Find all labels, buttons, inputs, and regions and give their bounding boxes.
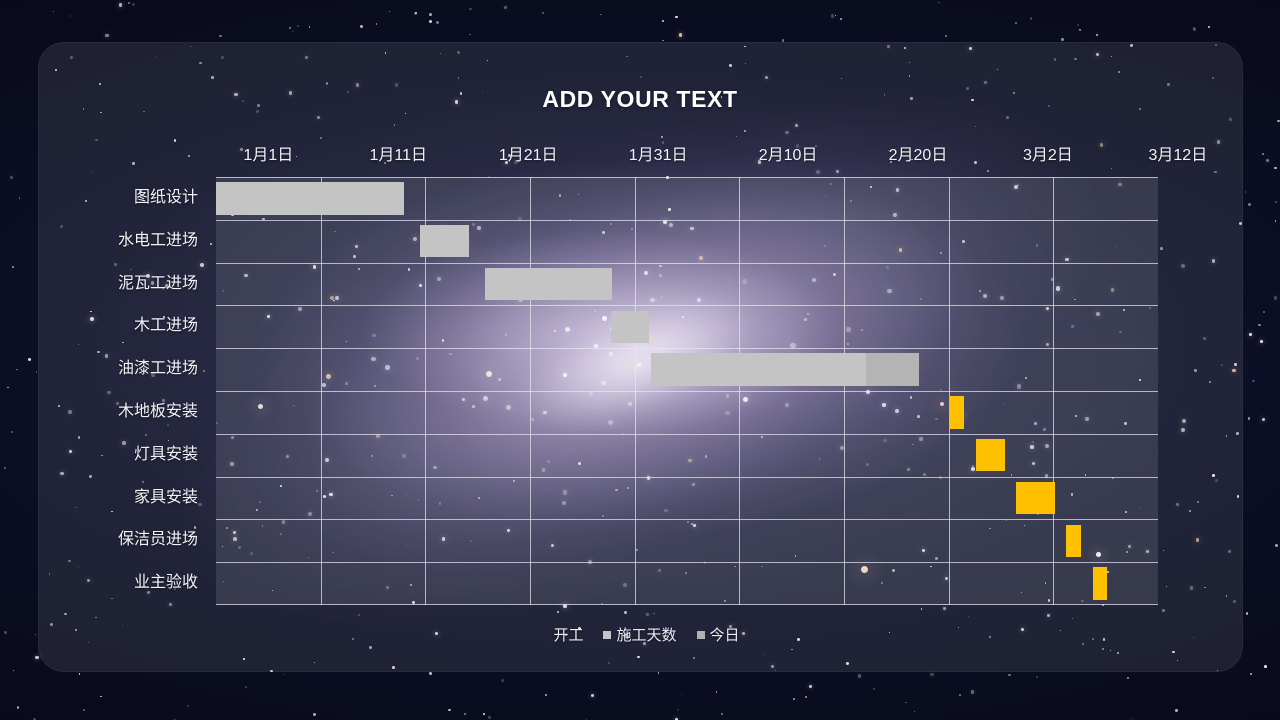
grid-line-horizontal xyxy=(216,434,1158,435)
gantt-plot-area xyxy=(216,177,1158,605)
y-axis-task-labels: 图纸设计水电工进场泥瓦工进场木工进场油漆工进场木地板安装灯具安装家具安装保洁员进… xyxy=(0,177,210,605)
grid-line-horizontal xyxy=(216,562,1158,563)
x-axis-tick-1: 1月11日 xyxy=(369,141,427,165)
x-axis-tick-7: 3月12日 xyxy=(1148,141,1207,165)
task-label-0: 图纸设计 xyxy=(0,177,210,220)
x-axis-tick-0: 1月1日 xyxy=(243,141,293,165)
grid-line-horizontal xyxy=(216,305,1158,306)
legend-swatch-icon xyxy=(697,631,705,639)
task-label-5: 木地板安装 xyxy=(0,391,210,434)
grid-line-horizontal xyxy=(216,477,1158,478)
legend-label: 开工 xyxy=(553,627,583,644)
grid-line-horizontal xyxy=(216,519,1158,520)
gantt-bar-9[interactable] xyxy=(1093,567,1107,600)
grid-line-horizontal xyxy=(216,348,1158,349)
gantt-bar-1[interactable] xyxy=(420,225,469,258)
x-axis-tick-labels: 1月1日1月11日1月21日1月31日2月10日2月20日3月2日3月12日 xyxy=(0,141,1280,161)
chart-legend: 开工施工天数今日 xyxy=(0,624,1280,645)
legend-item-1[interactable]: 施工天数 xyxy=(603,624,676,645)
legend-swatch-icon xyxy=(603,631,611,639)
page-title: ADD YOUR TEXT xyxy=(0,86,1280,113)
grid-line-horizontal xyxy=(216,604,1158,605)
grid-line-horizontal xyxy=(216,177,1158,178)
task-label-4: 油漆工进场 xyxy=(0,348,210,391)
task-label-8: 保洁员进场 xyxy=(0,519,210,562)
task-label-3: 木工进场 xyxy=(0,305,210,348)
legend-item-2[interactable]: 今日 xyxy=(697,624,740,645)
gantt-bar-5[interactable] xyxy=(949,396,965,429)
gantt-bar-3[interactable] xyxy=(611,311,649,344)
x-axis-tick-3: 1月31日 xyxy=(629,141,688,165)
x-axis-tick-2: 1月21日 xyxy=(499,141,558,165)
gantt-bar-8[interactable] xyxy=(1066,525,1082,558)
legend-swatch-icon xyxy=(540,631,548,639)
today-marker-bar[interactable] xyxy=(866,353,919,386)
legend-label: 今日 xyxy=(710,627,740,644)
legend-label: 施工天数 xyxy=(616,627,676,644)
task-label-7: 家具安装 xyxy=(0,477,210,520)
gantt-bar-2[interactable] xyxy=(485,268,612,301)
task-label-2: 泥瓦工进场 xyxy=(0,263,210,306)
gantt-bar-6[interactable] xyxy=(976,439,1005,472)
task-label-9: 业主验收 xyxy=(0,562,210,605)
grid-line-horizontal xyxy=(216,263,1158,264)
task-label-1: 水电工进场 xyxy=(0,220,210,263)
x-axis-tick-4: 2月10日 xyxy=(759,141,818,165)
grid-line-horizontal xyxy=(216,220,1158,221)
task-label-6: 灯具安装 xyxy=(0,434,210,477)
gantt-bar-0[interactable] xyxy=(216,182,404,215)
gantt-bar-7[interactable] xyxy=(1016,482,1055,515)
x-axis-tick-5: 2月20日 xyxy=(889,141,948,165)
x-axis-tick-6: 3月2日 xyxy=(1023,141,1073,165)
grid-line-horizontal xyxy=(216,391,1158,392)
legend-item-0[interactable]: 开工 xyxy=(540,624,583,645)
